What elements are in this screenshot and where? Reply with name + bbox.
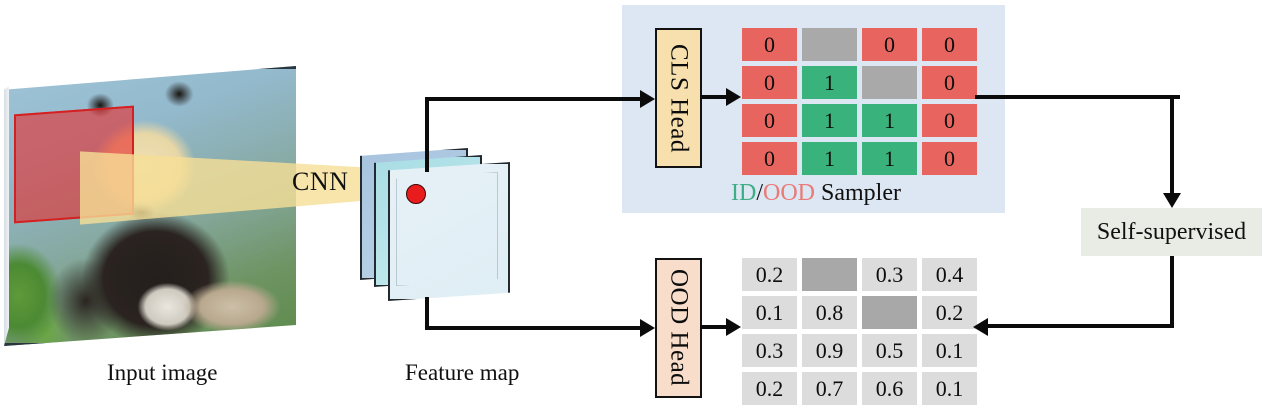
grid-cell xyxy=(802,258,857,291)
grid-cell: 0.1 xyxy=(742,296,797,329)
grid-cell: 1 xyxy=(802,104,857,137)
sampler-label-rest: Sampler xyxy=(815,180,901,206)
grid-cell: 0.1 xyxy=(922,372,977,405)
grid-cell: 0.7 xyxy=(802,372,857,405)
grid-cell: 0.2 xyxy=(922,296,977,329)
cls-head-label: CLS Head xyxy=(665,44,693,153)
ood-score-grid: 0.20.30.40.10.80.20.30.90.50.10.20.70.60… xyxy=(742,258,977,405)
ood-region-box xyxy=(14,106,134,224)
grid-cell: 1 xyxy=(802,142,857,175)
self-supervised-box[interactable]: Self-supervised xyxy=(1081,208,1262,256)
connector-selfsup-to-score-horizontal xyxy=(988,324,1174,328)
grid-cell: 1 xyxy=(862,104,917,137)
grid-cell: 0.8 xyxy=(802,296,857,329)
cnn-label: CNN xyxy=(292,167,348,197)
feature-point-marker xyxy=(406,184,426,204)
sampler-label: ID/OOD Sampler xyxy=(731,180,901,207)
ood-head-box[interactable]: OOD Head xyxy=(655,258,702,398)
sampler-label-ood: OOD xyxy=(763,180,815,206)
grid-cell: 0 xyxy=(922,28,977,61)
grid-cell: 0.2 xyxy=(742,258,797,291)
grid-cell xyxy=(862,66,917,99)
grid-cell: 0.4 xyxy=(922,258,977,291)
grid-cell: 0 xyxy=(922,104,977,137)
feature-map xyxy=(360,142,520,302)
input-image xyxy=(4,66,296,346)
grid-cell: 0.3 xyxy=(742,334,797,367)
connector-binary-to-selfsup-horizontal xyxy=(975,95,1180,99)
input-image-caption: Input image xyxy=(107,360,218,386)
sampler-label-id: ID xyxy=(731,180,756,206)
grid-cell xyxy=(862,296,917,329)
grid-cell: 0.1 xyxy=(922,334,977,367)
grid-cell xyxy=(802,28,857,61)
connector-featuremap-to-ood-horizontal xyxy=(425,326,640,330)
connector-cls-to-binary-grid xyxy=(700,95,728,99)
binary-label-grid: 00001001100110 xyxy=(742,28,977,175)
grid-cell: 0 xyxy=(742,66,797,99)
arrow-into-ood-head xyxy=(640,319,655,337)
diagram-canvas: CNN Input image Feature map CLS Head 000… xyxy=(0,0,1269,408)
connector-featuremap-to-cls-vertical xyxy=(425,97,429,172)
connector-binary-to-selfsup-vertical xyxy=(1170,95,1174,193)
grid-cell: 1 xyxy=(862,142,917,175)
input-image-left-edge xyxy=(4,66,9,346)
grid-cell: 0 xyxy=(922,66,977,99)
arrow-into-score-grid-feedback xyxy=(973,318,988,336)
grid-cell: 0 xyxy=(742,104,797,137)
arrow-into-self-supervised xyxy=(1163,193,1181,208)
grid-cell: 0.5 xyxy=(862,334,917,367)
connector-ood-to-score-grid xyxy=(700,325,728,329)
grid-cell: 0 xyxy=(922,142,977,175)
grid-cell: 0.6 xyxy=(862,372,917,405)
ood-head-label: OOD Head xyxy=(665,269,693,386)
connector-featuremap-to-cls-horizontal xyxy=(425,97,640,101)
arrow-into-binary-grid xyxy=(726,88,741,106)
grid-cell: 0 xyxy=(742,28,797,61)
grid-cell: 0.3 xyxy=(862,258,917,291)
self-supervised-label: Self-supervised xyxy=(1097,219,1246,246)
arrow-into-score-grid xyxy=(726,318,741,336)
grid-cell: 0 xyxy=(742,142,797,175)
arrow-into-cls-head xyxy=(640,90,655,108)
grid-cell: 0 xyxy=(862,28,917,61)
cls-head-box[interactable]: CLS Head xyxy=(655,28,702,168)
feature-map-caption: Feature map xyxy=(405,360,519,386)
connector-selfsup-to-score-vertical xyxy=(1170,256,1174,328)
grid-cell: 0.9 xyxy=(802,334,857,367)
grid-cell: 0.2 xyxy=(742,372,797,405)
sampler-label-slash: / xyxy=(756,180,763,206)
grid-cell: 1 xyxy=(802,66,857,99)
